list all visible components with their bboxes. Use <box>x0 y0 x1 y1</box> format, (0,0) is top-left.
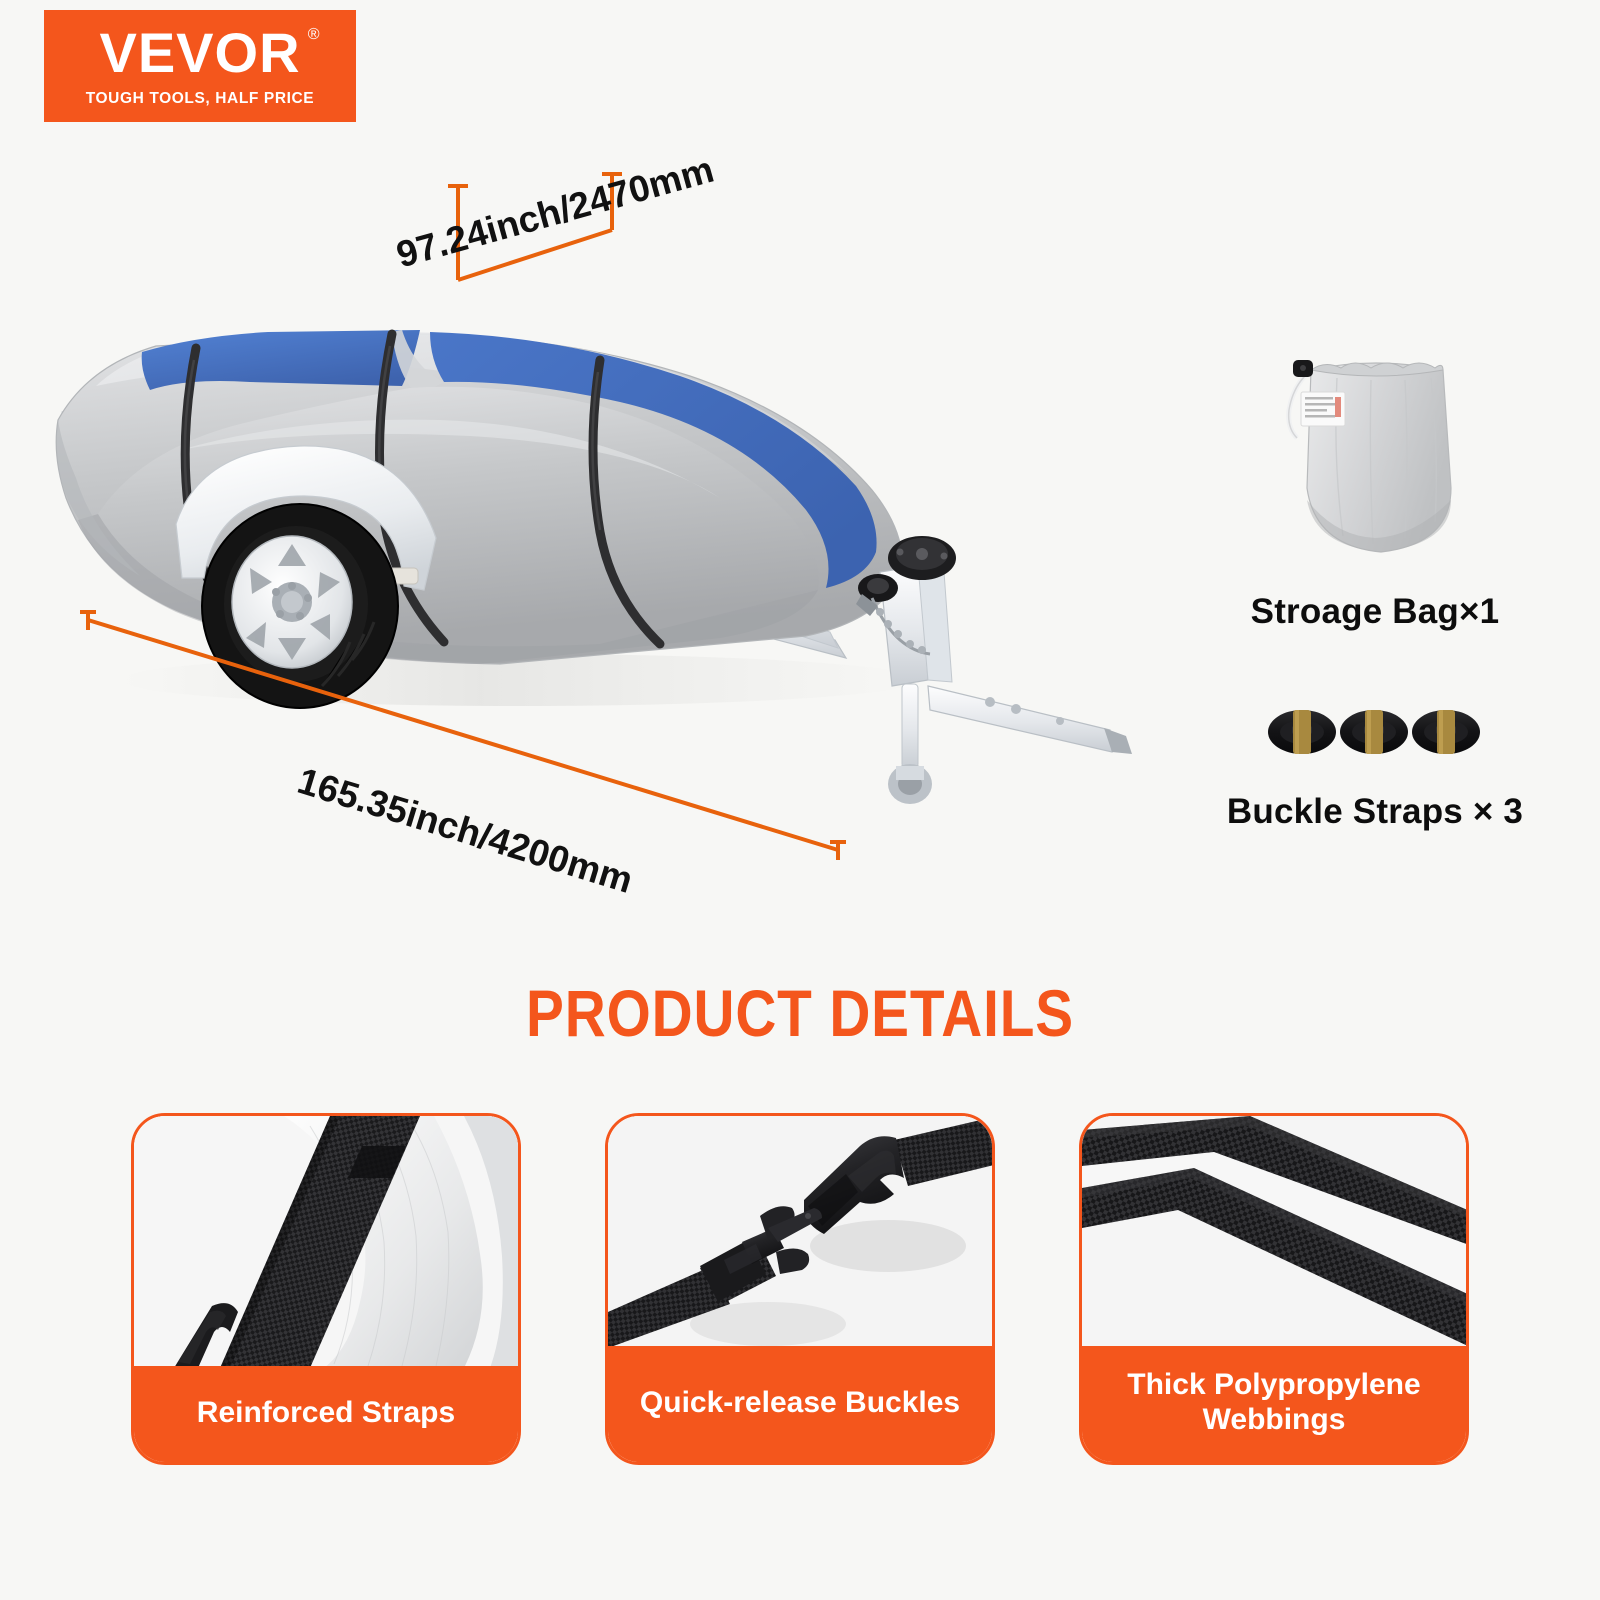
feature-card-reinforced-straps: Reinforced Straps <box>131 1113 521 1465</box>
feature-cards: Reinforced Straps <box>0 1113 1600 1465</box>
storage-bag-caption: Stroage Bag×1 <box>1150 592 1600 632</box>
feature-label-reinforced-straps: Reinforced Straps <box>134 1366 518 1462</box>
feature-card-polypropylene-webbings: Thick Polypropylene Webbings <box>1079 1113 1469 1465</box>
quick-release-buckle-photo <box>608 1116 992 1346</box>
polypropylene-webbing-photo <box>1082 1116 1466 1346</box>
hero-product-illustration <box>0 120 1140 920</box>
brand-logo: VEVOR ® TOUGH TOOLS, HALF PRICE <box>44 10 356 122</box>
coiled-strap-2 <box>1340 710 1408 754</box>
accessory-storage-bag: Stroage Bag×1 <box>1150 330 1600 632</box>
coiled-strap-1 <box>1268 710 1336 754</box>
brand-tagline: TOUGH TOOLS, HALF PRICE <box>86 90 315 108</box>
registered-trademark-icon: ® <box>308 27 321 43</box>
product-details-heading: PRODUCT DETAILS <box>112 975 1488 1051</box>
feature-card-quick-release-buckles: Quick-release Buckles <box>605 1113 995 1465</box>
trailer-tongue <box>856 536 1132 804</box>
feature-label-quick-release-buckles: Quick-release Buckles <box>608 1346 992 1462</box>
buckle-straps-icon <box>1150 690 1600 770</box>
feature-label-polypropylene-webbings: Thick Polypropylene Webbings <box>1082 1346 1466 1462</box>
brand-wordmark: VEVOR ® <box>99 25 300 81</box>
brand-name: VEVOR <box>99 21 300 84</box>
accessory-buckle-straps: Buckle Straps × 3 <box>1150 690 1600 832</box>
buckle-straps-caption: Buckle Straps × 3 <box>1150 792 1600 832</box>
reinforced-strap-photo <box>134 1116 518 1366</box>
coiled-strap-3 <box>1412 710 1480 754</box>
storage-bag-icon <box>1150 330 1600 570</box>
